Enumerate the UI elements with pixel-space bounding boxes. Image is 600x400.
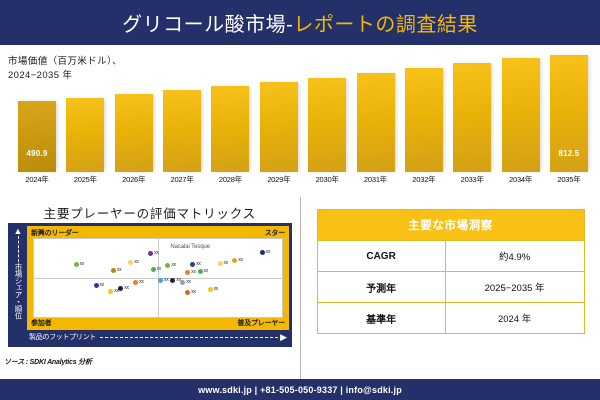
page-title: グリコール酸市場-レポートの調査結果 bbox=[122, 8, 478, 37]
chart-x-tick-label: 2028年 bbox=[211, 174, 249, 190]
chart-bar-column bbox=[405, 45, 443, 172]
matrix-data-point-label: xx bbox=[117, 267, 121, 273]
chart-x-tick-label: 2024年 bbox=[18, 174, 56, 190]
chart-x-tick-label: 2035年 bbox=[550, 174, 588, 190]
insights-row-value: 2024 年 bbox=[445, 303, 584, 334]
chart-bar-value-label: 490.9 bbox=[18, 149, 56, 158]
matrix-data-point bbox=[148, 251, 153, 256]
chart-x-tick-label: 2032年 bbox=[405, 174, 443, 190]
insights-row-key: 基準年 bbox=[317, 303, 445, 334]
page-title-primary: グリコール酸市場- bbox=[122, 14, 293, 36]
matrix-data-point bbox=[218, 261, 223, 266]
quadrant-label-emerging-leaders: 新興のリーダー bbox=[31, 228, 79, 238]
quadrant-label-participants: 参加者 bbox=[31, 318, 51, 328]
matrix-panel-title: 主要プレーヤーの評価マトリックス bbox=[0, 197, 300, 222]
chart-bar bbox=[211, 86, 249, 172]
insights-row-value: 約4.9% bbox=[445, 241, 584, 272]
matrix-data-point-label: xx bbox=[191, 269, 195, 275]
chart-bar bbox=[405, 68, 443, 172]
matrix-data-point-label: xx bbox=[134, 259, 138, 265]
chart-bar-column bbox=[163, 45, 201, 172]
chart-x-axis: 2024年2025年2026年2027年2028年2029年2030年2031年… bbox=[18, 174, 588, 190]
matrix-data-point bbox=[111, 268, 116, 273]
chart-bar bbox=[163, 90, 201, 172]
matrix-data-point bbox=[165, 263, 170, 268]
insights-header-row: 主要な市場洞察 bbox=[317, 210, 584, 241]
insights-row-key: 予測年 bbox=[317, 272, 445, 303]
chart-bar-column bbox=[115, 45, 153, 172]
matrix-data-point bbox=[185, 290, 190, 295]
matrix-annotation-nacalai: Nacalai Tesque bbox=[170, 244, 210, 250]
chart-x-tick-label: 2025年 bbox=[66, 174, 104, 190]
chart-x-tick-label: 2033年 bbox=[453, 174, 491, 190]
matrix-data-point-label: xx bbox=[164, 277, 168, 283]
matrix-data-point-label: xx bbox=[154, 250, 158, 256]
chart-x-tick-label: 2031年 bbox=[357, 174, 395, 190]
matrix-data-point bbox=[74, 262, 79, 267]
insights-row: 基準年2024 年 bbox=[317, 303, 584, 334]
lower-section: 主要プレーヤーの評価マトリックス ▲ 市場シェア・順位 新興のリーダー スター … bbox=[0, 197, 600, 379]
source-note: ソース : SDKI Analytics 分析 bbox=[4, 357, 92, 367]
chart-bar-column bbox=[66, 45, 104, 172]
matrix-data-point bbox=[151, 267, 156, 272]
insights-header: 主要な市場洞察 bbox=[317, 210, 584, 241]
page-footer: www.sdki.jp | +81-505-050-9337 | info@sd… bbox=[0, 379, 600, 400]
matrix-data-point bbox=[185, 270, 190, 275]
insights-row-value: 2025−2035 年 bbox=[445, 272, 584, 303]
quadrant-label-pervasive-players: 普及プレーヤー bbox=[237, 318, 285, 328]
matrix-y-axis-label: 市場シェア・順位 bbox=[14, 263, 22, 319]
infographic-page: グリコール酸市場-レポートの調査結果 市場価値（百万米ドル）、 2024−203… bbox=[0, 0, 600, 400]
matrix-data-point bbox=[94, 283, 99, 288]
matrix-data-point-label: xx bbox=[186, 279, 190, 285]
matrix-data-point bbox=[133, 280, 138, 285]
matrix-data-point bbox=[232, 258, 237, 263]
matrix-data-point-label: xx bbox=[191, 289, 195, 295]
matrix-data-point bbox=[190, 262, 195, 267]
chart-bar bbox=[357, 73, 395, 172]
matrix-data-point-label: xx bbox=[266, 249, 270, 255]
matrix-data-point-label: xx bbox=[224, 260, 228, 266]
arrow-right-icon: ▶ bbox=[280, 333, 289, 341]
matrix-data-point-label: xx bbox=[100, 282, 104, 288]
insights-row: CAGR約4.9% bbox=[317, 241, 584, 272]
chart-bar-value-label: 812.5 bbox=[550, 149, 588, 158]
chart-bar bbox=[260, 82, 298, 172]
page-header: グリコール酸市場-レポートの調査結果 bbox=[0, 0, 600, 45]
insights-row-key: CAGR bbox=[317, 241, 445, 272]
matrix-data-point bbox=[180, 280, 185, 285]
chart-bar-column bbox=[308, 45, 346, 172]
chart-bar bbox=[308, 78, 346, 172]
chart-bar bbox=[115, 94, 153, 172]
matrix-data-point bbox=[158, 278, 163, 283]
matrix-data-point bbox=[170, 278, 175, 283]
quadrant-label-stars: スター bbox=[265, 228, 285, 238]
matrix-data-point-label: xx bbox=[171, 262, 175, 268]
chart-bar-column bbox=[260, 45, 298, 172]
chart-bar bbox=[502, 58, 540, 172]
footer-contact-text: www.sdki.jp | +81-505-050-9337 | info@sd… bbox=[198, 385, 402, 395]
page-title-accent: レポートの調査結果 bbox=[293, 14, 478, 36]
evaluation-matrix: ▲ 市場シェア・順位 新興のリーダー スター 参加者 普及プレーヤー Nacal… bbox=[8, 223, 292, 347]
matrix-scatter-plot: Nacalai Tesque xxxxxxxxxxxxxxxxxxxxxxxxx… bbox=[33, 238, 283, 318]
matrix-data-point-label: xx bbox=[214, 286, 218, 292]
matrix-data-point-label: xx bbox=[124, 285, 128, 291]
matrix-data-point bbox=[208, 287, 213, 292]
matrix-data-point-label: xx bbox=[139, 279, 143, 285]
matrix-data-point-label: xx bbox=[157, 266, 161, 272]
chart-bar-column bbox=[211, 45, 249, 172]
matrix-data-point bbox=[108, 289, 113, 294]
chart-x-tick-label: 2030年 bbox=[308, 174, 346, 190]
arrow-up-icon: ▲ bbox=[14, 227, 23, 235]
chart-bar bbox=[66, 98, 104, 172]
chart-bar: 812.5 bbox=[550, 55, 588, 172]
chart-bar: 490.9 bbox=[18, 101, 56, 172]
matrix-x-axis-label: 製品のフットプリント bbox=[27, 332, 96, 342]
chart-bar bbox=[453, 63, 491, 172]
chart-bar-column bbox=[502, 45, 540, 172]
matrix-data-point bbox=[260, 250, 265, 255]
chart-bar-column: 490.9 bbox=[18, 45, 56, 172]
insights-panel: 主要な市場洞察 CAGR約4.9%予測年2025−2035 年基準年2024 年 bbox=[300, 197, 600, 379]
matrix-data-point-label: xx bbox=[80, 261, 84, 267]
matrix-data-point-label: xx bbox=[238, 257, 242, 263]
matrix-data-point bbox=[198, 269, 203, 274]
x-axis-dashed-line bbox=[100, 337, 278, 338]
matrix-data-point-label: xx bbox=[196, 261, 200, 267]
matrix-data-point bbox=[118, 286, 123, 291]
matrix-quadrant-board: 新興のリーダー スター 参加者 普及プレーヤー Nacalai Tesque x… bbox=[27, 226, 289, 330]
bar-chart: 市場価値（百万米ドル）、 2024−2035 年 490.9812.5 2024… bbox=[0, 45, 600, 197]
matrix-y-axis: ▲ 市場シェア・順位 bbox=[10, 227, 26, 333]
matrix-panel: 主要プレーヤーの評価マトリックス ▲ 市場シェア・順位 新興のリーダー スター … bbox=[0, 197, 300, 379]
chart-bar-column bbox=[357, 45, 395, 172]
insights-row: 予測年2025−2035 年 bbox=[317, 272, 584, 303]
insights-table: 主要な市場洞察 CAGR約4.9%予測年2025−2035 年基準年2024 年 bbox=[317, 209, 585, 334]
y-axis-dashed-line bbox=[18, 236, 19, 262]
chart-plot-area: 490.9812.5 bbox=[18, 45, 588, 172]
matrix-data-point-label: xx bbox=[204, 268, 208, 274]
chart-x-tick-label: 2026年 bbox=[115, 174, 153, 190]
matrix-data-point bbox=[128, 260, 133, 265]
chart-x-tick-label: 2034年 bbox=[502, 174, 540, 190]
chart-x-tick-label: 2027年 bbox=[163, 174, 201, 190]
chart-bar-column: 812.5 bbox=[550, 45, 588, 172]
chart-x-tick-label: 2029年 bbox=[260, 174, 298, 190]
chart-bar-column bbox=[453, 45, 491, 172]
matrix-x-axis: 製品のフットプリント ▶ bbox=[27, 330, 289, 344]
